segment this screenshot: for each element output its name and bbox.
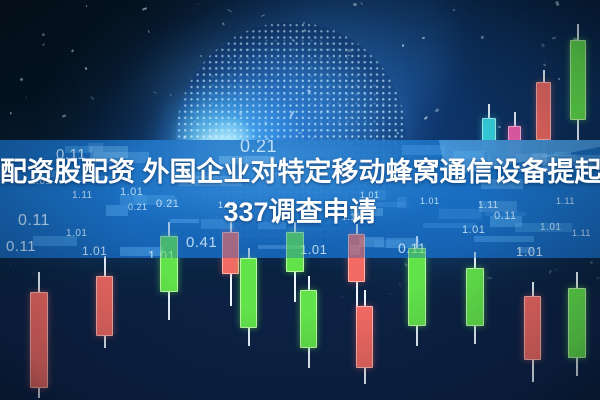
candle-body [222,232,239,274]
candlestick-down [96,256,113,348]
candlestick-down [222,222,239,306]
banner-image: 0.111.011.111.010.210.111.010.111.010.21… [0,0,600,400]
candle-wick [104,256,106,348]
headline: 配资股配资 外国企业对特定移动蜂窝通信设备提起 337调查申请 [0,152,600,232]
candlestick-up [466,252,484,344]
candle-body [466,268,484,326]
candlestick-up [160,222,178,320]
candlestick-down [348,224,365,308]
candle-body [96,276,113,336]
candlestick-up [408,236,426,346]
candle-body [286,232,304,272]
candlestick-up [240,248,257,346]
candle-body [240,258,257,328]
headline-line-1: 配资股配资 外国企业对特定移动蜂窝通信设备提起 [0,152,600,192]
candle-body [348,234,365,282]
candle-body [160,236,178,292]
candle-wick [474,252,476,344]
candlestick-up [286,222,304,302]
candle-wick [248,248,250,346]
candle-body [408,248,426,326]
headline-line-2: 337调查申请 [0,192,600,232]
